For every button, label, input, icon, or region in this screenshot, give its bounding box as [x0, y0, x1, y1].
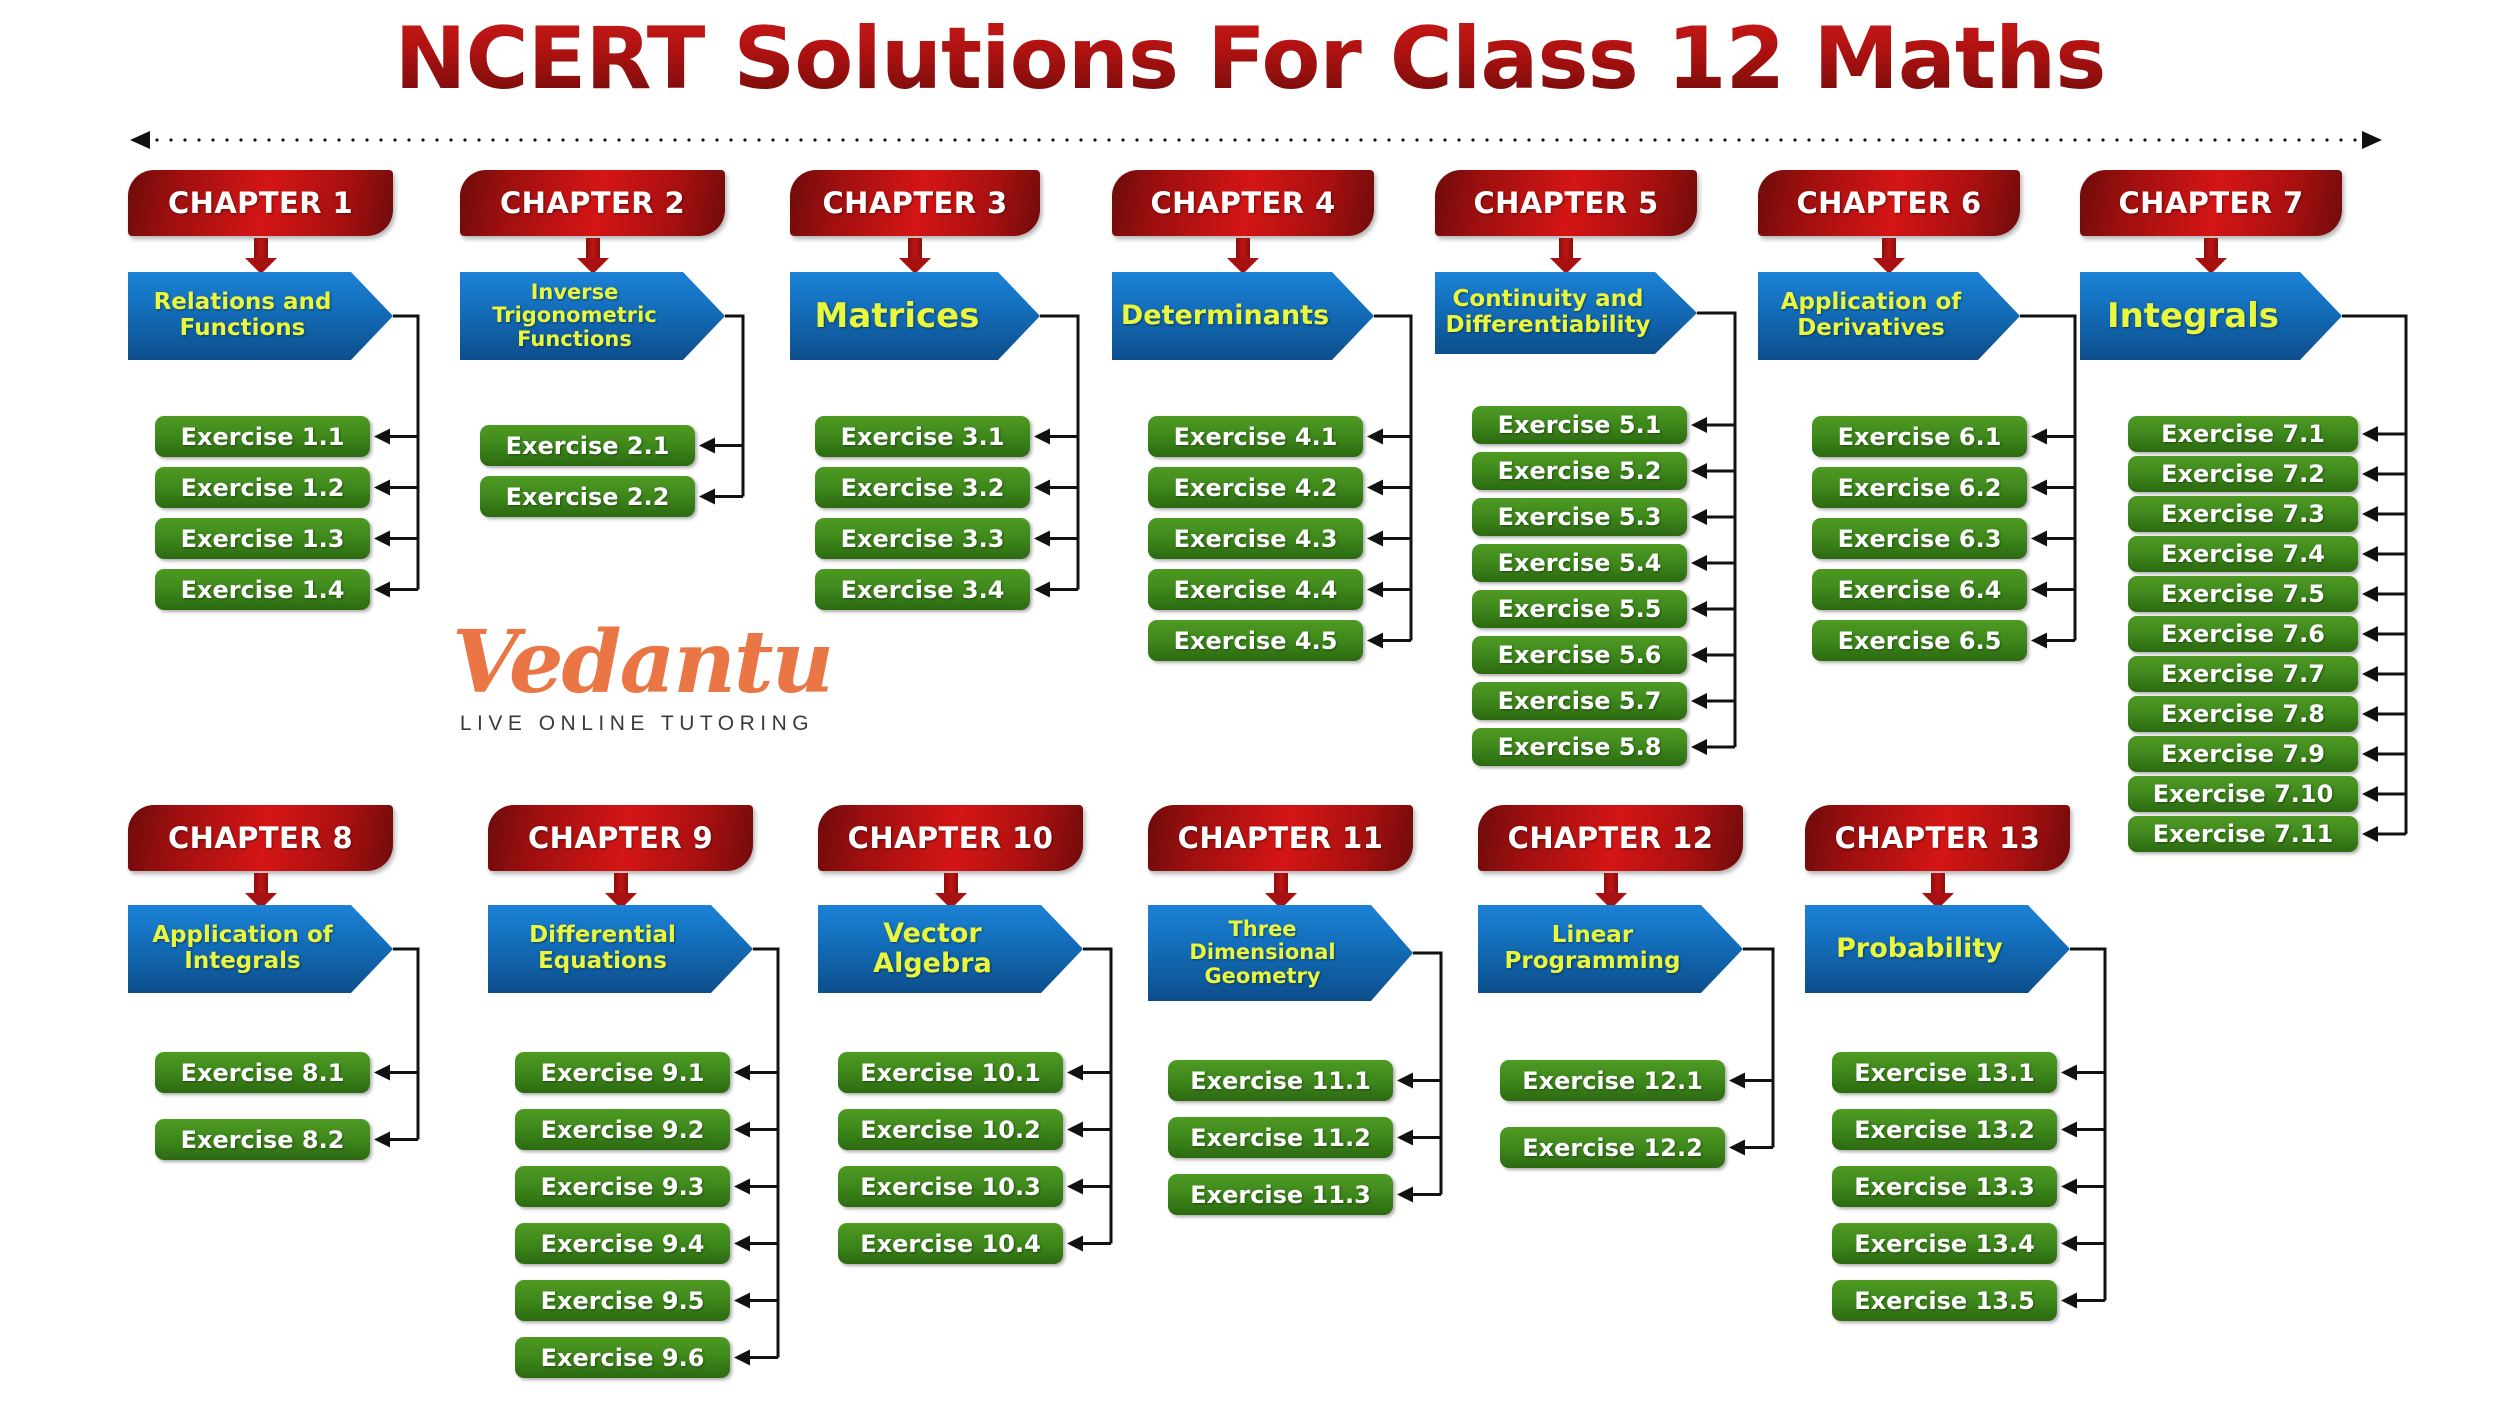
- exercise-pill[interactable]: Exercise 7.3: [2128, 496, 2358, 532]
- down-arrow-icon: [488, 871, 753, 907]
- chapter-title-label: Integrals: [2107, 297, 2279, 335]
- chapter-title-label: Linear Programming: [1488, 923, 1697, 975]
- chapter-banner-label: CHAPTER 11: [1178, 821, 1384, 855]
- exercise-label: Exercise 13.2: [1854, 1116, 2035, 1144]
- exercise-label: Exercise 9.6: [541, 1344, 705, 1372]
- exercise-pill[interactable]: Exercise 4.5: [1148, 620, 1363, 661]
- chapter-banner-label: CHAPTER 5: [1473, 186, 1658, 220]
- exercise-pill[interactable]: Exercise 6.4: [1812, 569, 2027, 610]
- chapter-banner[interactable]: CHAPTER 5: [1435, 170, 1697, 236]
- chapter-column: CHAPTER 13: [1805, 805, 2070, 907]
- chapter-banner[interactable]: CHAPTER 10: [818, 805, 1083, 871]
- exercise-label: Exercise 2.2: [506, 483, 670, 511]
- page-title: NCERT Solutions For Class 12 Maths: [0, 14, 2500, 104]
- exercise-pill[interactable]: Exercise 10.2: [838, 1109, 1063, 1150]
- chapter-banner[interactable]: CHAPTER 9: [488, 805, 753, 871]
- chapter-column: CHAPTER 9: [488, 805, 753, 907]
- exercise-pill[interactable]: Exercise 5.4: [1472, 544, 1687, 582]
- exercise-pill[interactable]: Exercise 7.2: [2128, 456, 2358, 492]
- exercise-pill[interactable]: Exercise 9.3: [515, 1166, 730, 1207]
- chapter-title-label: Application of Derivatives: [1768, 290, 1974, 342]
- exercise-label: Exercise 6.1: [1838, 423, 2002, 451]
- chapter-title-chevron[interactable]: Three Dimensional Geometry: [1148, 905, 1413, 1001]
- infographic-canvas: NCERT Solutions For Class 12 Maths CHAPT…: [0, 0, 2500, 1407]
- chapter-title-chevron[interactable]: Linear Programming: [1478, 905, 1743, 993]
- exercise-pill[interactable]: Exercise 5.6: [1472, 636, 1687, 674]
- exercise-pill[interactable]: Exercise 7.6: [2128, 616, 2358, 652]
- chapter-banner-label: CHAPTER 9: [528, 821, 713, 855]
- chapter-title-label: Relations and Functions: [138, 290, 347, 342]
- exercise-label: Exercise 7.2: [2161, 460, 2325, 488]
- chapter-title-label: Three Dimensional Geometry: [1158, 918, 1367, 989]
- exercise-label: Exercise 1.1: [181, 423, 345, 451]
- exercise-pill[interactable]: Exercise 5.2: [1472, 452, 1687, 490]
- chapter-banner[interactable]: CHAPTER 13: [1805, 805, 2070, 871]
- chapter-title-label: Continuity and Differentiability: [1445, 287, 1651, 339]
- down-arrow-icon: [1478, 871, 1743, 907]
- dotted-line: [150, 138, 2362, 142]
- exercise-label: Exercise 4.1: [1174, 423, 1338, 451]
- exercise-label: Exercise 5.3: [1498, 503, 1662, 531]
- exercise-pill[interactable]: Exercise 9.4: [515, 1223, 730, 1264]
- exercise-label: Exercise 12.2: [1522, 1134, 1703, 1162]
- exercise-pill[interactable]: Exercise 11.1: [1168, 1060, 1393, 1101]
- chapter-banner[interactable]: CHAPTER 12: [1478, 805, 1743, 871]
- exercise-label: Exercise 13.4: [1854, 1230, 2035, 1258]
- exercise-pill[interactable]: Exercise 13.4: [1832, 1223, 2057, 1264]
- exercise-label: Exercise 7.9: [2161, 740, 2325, 768]
- exercise-label: Exercise 6.3: [1838, 525, 2002, 553]
- exercise-label: Exercise 4.3: [1174, 525, 1338, 553]
- down-arrow-icon: [460, 236, 725, 272]
- down-arrow-icon: [1758, 236, 2020, 272]
- exercise-pill[interactable]: Exercise 6.2: [1812, 467, 2027, 508]
- exercise-pill[interactable]: Exercise 7.4: [2128, 536, 2358, 572]
- exercise-label: Exercise 9.4: [541, 1230, 705, 1258]
- exercise-pill[interactable]: Exercise 5.7: [1472, 682, 1687, 720]
- exercise-label: Exercise 7.1: [2161, 420, 2325, 448]
- exercise-label: Exercise 5.5: [1498, 595, 1662, 623]
- chapter-title-label: Inverse Trigonometric Functions: [470, 281, 679, 352]
- chapter-title-label: Determinants: [1121, 301, 1329, 331]
- exercise-pill[interactable]: Exercise 4.4: [1148, 569, 1363, 610]
- exercise-label: Exercise 7.7: [2161, 660, 2325, 688]
- exercise-label: Exercise 5.2: [1498, 457, 1662, 485]
- chapter-title-chevron[interactable]: Application of Integrals: [128, 905, 393, 993]
- exercise-pill[interactable]: Exercise 5.3: [1472, 498, 1687, 536]
- exercise-pill[interactable]: Exercise 8.1: [155, 1052, 370, 1093]
- chapter-title-label: Probability: [1836, 934, 2003, 964]
- exercise-pill[interactable]: Exercise 9.1: [515, 1052, 730, 1093]
- exercise-pill[interactable]: Exercise 6.1: [1812, 416, 2027, 457]
- chapter-title-label: Vector Algebra: [828, 919, 1037, 979]
- exercise-label: Exercise 3.2: [841, 474, 1005, 502]
- exercise-label: Exercise 6.5: [1838, 627, 2002, 655]
- brand-wordmark: Vedantu: [452, 622, 822, 704]
- exercise-label: Exercise 9.3: [541, 1173, 705, 1201]
- chapter-banner-label: CHAPTER 12: [1508, 821, 1714, 855]
- chapter-banner[interactable]: CHAPTER 1: [128, 170, 393, 236]
- chapter-banner-label: CHAPTER 8: [168, 821, 353, 855]
- exercise-label: Exercise 8.1: [181, 1059, 345, 1087]
- exercise-label: Exercise 11.3: [1190, 1181, 1371, 1209]
- chapter-banner-label: CHAPTER 6: [1796, 186, 1981, 220]
- arrow-left-icon: [130, 131, 150, 149]
- exercise-label: Exercise 6.2: [1838, 474, 2002, 502]
- chapter-column: CHAPTER 5: [1435, 170, 1697, 272]
- exercise-label: Exercise 7.4: [2161, 540, 2325, 568]
- down-arrow-icon: [1435, 236, 1697, 272]
- exercise-label: Exercise 7.3: [2161, 500, 2325, 528]
- exercise-pill[interactable]: Exercise 13.5: [1832, 1280, 2057, 1321]
- exercise-pill[interactable]: Exercise 12.2: [1500, 1127, 1725, 1168]
- chapter-column: CHAPTER 10: [818, 805, 1083, 907]
- exercise-label: Exercise 1.3: [181, 525, 345, 553]
- exercise-label: Exercise 7.11: [2153, 820, 2334, 848]
- exercise-pill[interactable]: Exercise 9.6: [515, 1337, 730, 1378]
- exercise-pill[interactable]: Exercise 3.4: [815, 569, 1030, 610]
- chapter-banner-label: CHAPTER 13: [1835, 821, 2041, 855]
- exercise-pill[interactable]: Exercise 13.3: [1832, 1166, 2057, 1207]
- exercise-pill[interactable]: Exercise 4.1: [1148, 416, 1363, 457]
- chapter-column: CHAPTER 11: [1148, 805, 1413, 907]
- exercise-label: Exercise 4.2: [1174, 474, 1338, 502]
- chapter-banner-label: CHAPTER 4: [1150, 186, 1335, 220]
- exercise-pill[interactable]: Exercise 1.1: [155, 416, 370, 457]
- chapter-banner[interactable]: CHAPTER 8: [128, 805, 393, 871]
- exercise-label: Exercise 2.1: [506, 432, 670, 460]
- chapter-column: CHAPTER 2: [460, 170, 725, 272]
- chapter-column: CHAPTER 12: [1478, 805, 1743, 907]
- exercise-pill[interactable]: Exercise 10.3: [838, 1166, 1063, 1207]
- chapter-title-chevron[interactable]: Application of Derivatives: [1758, 272, 2020, 360]
- exercise-pill[interactable]: Exercise 4.2: [1148, 467, 1363, 508]
- exercise-pill[interactable]: Exercise 7.10: [2128, 776, 2358, 812]
- exercise-label: Exercise 5.1: [1498, 411, 1662, 439]
- exercise-label: Exercise 13.3: [1854, 1173, 2035, 1201]
- chapter-banner-label: CHAPTER 10: [848, 821, 1054, 855]
- exercise-pill[interactable]: Exercise 7.8: [2128, 696, 2358, 732]
- exercise-pill[interactable]: Exercise 1.3: [155, 518, 370, 559]
- exercise-label: Exercise 5.8: [1498, 733, 1662, 761]
- exercise-label: Exercise 5.4: [1498, 549, 1662, 577]
- down-arrow-icon: [128, 236, 393, 272]
- exercise-label: Exercise 13.1: [1854, 1059, 2035, 1087]
- exercise-pill[interactable]: Exercise 1.2: [155, 467, 370, 508]
- exercise-pill[interactable]: Exercise 13.2: [1832, 1109, 2057, 1150]
- exercise-pill[interactable]: Exercise 11.3: [1168, 1174, 1393, 1215]
- exercise-pill[interactable]: Exercise 10.4: [838, 1223, 1063, 1264]
- exercise-pill[interactable]: Exercise 6.3: [1812, 518, 2027, 559]
- chapter-title-label: Differential Equations: [498, 923, 707, 975]
- exercise-label: Exercise 13.5: [1854, 1287, 2035, 1315]
- chapter-column: CHAPTER 7: [2080, 170, 2342, 272]
- exercise-pill[interactable]: Exercise 5.1: [1472, 406, 1687, 444]
- exercise-pill[interactable]: Exercise 7.7: [2128, 656, 2358, 692]
- chapter-banner-label: CHAPTER 1: [168, 186, 353, 220]
- chapter-banner[interactable]: CHAPTER 4: [1112, 170, 1374, 236]
- chapter-title-chevron[interactable]: Integrals: [2080, 272, 2342, 360]
- chapter-title-chevron[interactable]: Differential Equations: [488, 905, 753, 993]
- chapter-title-chevron[interactable]: Continuity and Differentiability: [1435, 272, 1697, 354]
- exercise-label: Exercise 7.6: [2161, 620, 2325, 648]
- chapter-title-label: Application of Integrals: [138, 923, 347, 975]
- down-arrow-icon: [1112, 236, 1374, 272]
- exercise-label: Exercise 3.1: [841, 423, 1005, 451]
- down-arrow-icon: [790, 236, 1040, 272]
- brand-tagline: LIVE ONLINE TUTORING: [452, 712, 822, 736]
- exercise-pill[interactable]: Exercise 8.2: [155, 1119, 370, 1160]
- exercise-pill[interactable]: Exercise 5.5: [1472, 590, 1687, 628]
- exercise-label: Exercise 4.4: [1174, 576, 1338, 604]
- exercise-label: Exercise 10.2: [860, 1116, 1041, 1144]
- exercise-pill[interactable]: Exercise 12.1: [1500, 1060, 1725, 1101]
- chapter-title-label: Matrices: [815, 297, 980, 335]
- exercise-label: Exercise 10.3: [860, 1173, 1041, 1201]
- exercise-label: Exercise 9.1: [541, 1059, 705, 1087]
- exercise-pill[interactable]: Exercise 4.3: [1148, 518, 1363, 559]
- chapter-title-chevron[interactable]: Determinants: [1112, 272, 1374, 360]
- chapter-banner[interactable]: CHAPTER 11: [1148, 805, 1413, 871]
- chapter-banner[interactable]: CHAPTER 3: [790, 170, 1040, 236]
- chapter-banner-label: CHAPTER 7: [2118, 186, 2303, 220]
- exercise-label: Exercise 9.5: [541, 1287, 705, 1315]
- chapter-column: CHAPTER 4: [1112, 170, 1374, 272]
- exercise-pill[interactable]: Exercise 2.2: [480, 476, 695, 517]
- exercise-pill[interactable]: Exercise 3.2: [815, 467, 1030, 508]
- exercise-label: Exercise 1.2: [181, 474, 345, 502]
- exercise-label: Exercise 7.5: [2161, 580, 2325, 608]
- exercise-label: Exercise 8.2: [181, 1126, 345, 1154]
- exercise-pill[interactable]: Exercise 13.1: [1832, 1052, 2057, 1093]
- exercise-label: Exercise 1.4: [181, 576, 345, 604]
- exercise-pill[interactable]: Exercise 7.5: [2128, 576, 2358, 612]
- exercise-label: Exercise 12.1: [1522, 1067, 1703, 1095]
- exercise-pill[interactable]: Exercise 9.5: [515, 1280, 730, 1321]
- exercise-label: Exercise 3.4: [841, 576, 1005, 604]
- chapter-column: CHAPTER 6: [1758, 170, 2020, 272]
- chapter-column: CHAPTER 8: [128, 805, 393, 907]
- chapter-title-chevron[interactable]: Relations and Functions: [128, 272, 393, 360]
- exercise-pill[interactable]: Exercise 3.3: [815, 518, 1030, 559]
- exercise-pill[interactable]: Exercise 9.2: [515, 1109, 730, 1150]
- exercise-label: Exercise 7.10: [2153, 780, 2334, 808]
- down-arrow-icon: [1805, 871, 2070, 907]
- exercise-pill[interactable]: Exercise 7.1: [2128, 416, 2358, 452]
- down-arrow-icon: [818, 871, 1083, 907]
- chapter-banner[interactable]: CHAPTER 6: [1758, 170, 2020, 236]
- exercise-label: Exercise 11.1: [1190, 1067, 1371, 1095]
- exercise-pill[interactable]: Exercise 2.1: [480, 425, 695, 466]
- exercise-pill[interactable]: Exercise 3.1: [815, 416, 1030, 457]
- chapter-banner-label: CHAPTER 3: [822, 186, 1007, 220]
- exercise-label: Exercise 11.2: [1190, 1124, 1371, 1152]
- exercise-label: Exercise 9.2: [541, 1116, 705, 1144]
- chapter-title-chevron[interactable]: Matrices: [790, 272, 1040, 360]
- arrow-right-icon: [2362, 131, 2382, 149]
- chapter-column: CHAPTER 3: [790, 170, 1040, 272]
- exercise-label: Exercise 7.8: [2161, 700, 2325, 728]
- chapter-title-chevron[interactable]: Probability: [1805, 905, 2070, 993]
- vedantu-logo: Vedantu LIVE ONLINE TUTORING: [452, 622, 822, 736]
- chapter-column: CHAPTER 1: [128, 170, 393, 272]
- chapter-banner[interactable]: CHAPTER 7: [2080, 170, 2342, 236]
- down-arrow-icon: [128, 871, 393, 907]
- exercise-pill[interactable]: Exercise 10.1: [838, 1052, 1063, 1093]
- exercise-label: Exercise 6.4: [1838, 576, 2002, 604]
- chapter-banner[interactable]: CHAPTER 2: [460, 170, 725, 236]
- exercise-label: Exercise 5.6: [1498, 641, 1662, 669]
- exercise-pill[interactable]: Exercise 6.5: [1812, 620, 2027, 661]
- chapter-title-chevron[interactable]: Vector Algebra: [818, 905, 1083, 993]
- exercise-label: Exercise 10.1: [860, 1059, 1041, 1087]
- exercise-pill[interactable]: Exercise 1.4: [155, 569, 370, 610]
- exercise-label: Exercise 5.7: [1498, 687, 1662, 715]
- decorative-dotted-divider: [130, 133, 2382, 147]
- exercise-pill[interactable]: Exercise 11.2: [1168, 1117, 1393, 1158]
- exercise-label: Exercise 4.5: [1174, 627, 1338, 655]
- down-arrow-icon: [1148, 871, 1413, 907]
- chapter-banner-label: CHAPTER 2: [500, 186, 685, 220]
- chapter-title-chevron[interactable]: Inverse Trigonometric Functions: [460, 272, 725, 360]
- down-arrow-icon: [2080, 236, 2342, 272]
- exercise-pill[interactable]: Exercise 7.11: [2128, 816, 2358, 852]
- exercise-pill[interactable]: Exercise 5.8: [1472, 728, 1687, 766]
- exercise-pill[interactable]: Exercise 7.9: [2128, 736, 2358, 772]
- exercise-label: Exercise 3.3: [841, 525, 1005, 553]
- exercise-label: Exercise 10.4: [860, 1230, 1041, 1258]
